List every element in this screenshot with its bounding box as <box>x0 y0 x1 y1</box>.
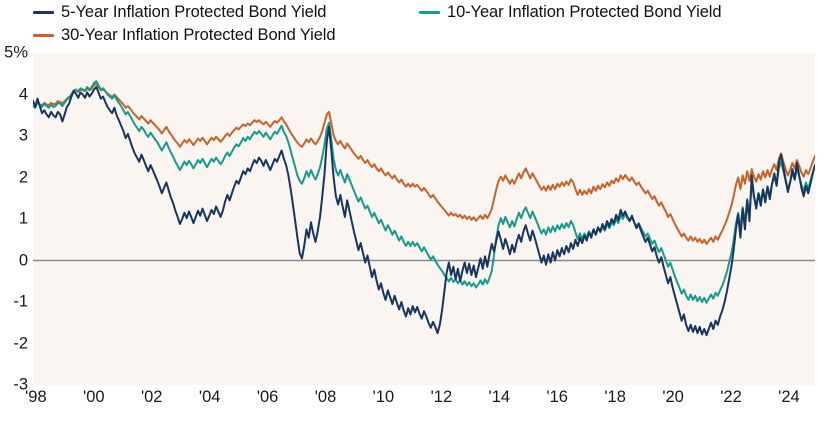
series-lines <box>33 53 815 385</box>
legend-swatch-30-year-line-icon <box>33 34 54 37</box>
x-axis-tick-label: '00 <box>83 388 105 407</box>
x-axis-tick-label: '12 <box>431 388 453 407</box>
x-axis-tick-label: '14 <box>489 388 511 407</box>
y-axis-tick-label: -2 <box>13 334 28 353</box>
inflation-protected-bond-yield-chart: 5-Year Inflation Protected Bond Yield 10… <box>0 0 825 421</box>
y-axis-tick-label: 4 <box>19 85 28 104</box>
x-axis-tick-label: '04 <box>199 388 221 407</box>
series-line-5-year <box>33 87 815 335</box>
y-axis-tick-label: 3 <box>19 127 28 146</box>
legend-label-5-year: 5-Year Inflation Protected Bond Yield <box>61 3 326 22</box>
x-axis-tick-label: '98 <box>25 388 47 407</box>
y-axis-tick-label: 0 <box>19 251 28 270</box>
x-axis-tick-label: '20 <box>662 388 684 407</box>
y-axis-tick-label: 2 <box>19 168 28 187</box>
chart-legend: 5-Year Inflation Protected Bond Yield 10… <box>33 0 823 46</box>
legend-swatch-5-year-line-icon <box>33 11 54 14</box>
legend-item-30-year[interactable]: 30-Year Inflation Protected Bond Yield <box>33 25 335 46</box>
x-axis-tick-label: '02 <box>141 388 163 407</box>
x-axis-tick-label: '24 <box>778 388 800 407</box>
legend-item-5-year[interactable]: 5-Year Inflation Protected Bond Yield <box>33 2 326 23</box>
legend-label-30-year: 30-Year Inflation Protected Bond Yield <box>61 26 335 45</box>
series-line-30-year <box>33 84 815 244</box>
y-axis-tick-label: 1 <box>19 210 28 229</box>
y-axis-tick-label: -1 <box>13 293 28 312</box>
plot-area <box>33 53 815 385</box>
legend-item-10-year[interactable]: 10-Year Inflation Protected Bond Yield <box>419 2 721 23</box>
legend-label-10-year: 10-Year Inflation Protected Bond Yield <box>447 3 721 22</box>
x-axis-tick-label: '06 <box>257 388 279 407</box>
x-axis-tick-label: '22 <box>720 388 742 407</box>
legend-swatch-10-year-line-icon <box>419 11 440 14</box>
x-axis-tick-label: '08 <box>315 388 337 407</box>
x-axis-tick-label: '18 <box>604 388 626 407</box>
y-axis-tick-label: 5% <box>4 44 28 63</box>
x-axis-tick-label: '16 <box>546 388 568 407</box>
x-axis: '98'00'02'04'06'08'10'12'14'16'18'20'22'… <box>33 388 815 416</box>
x-axis-tick-label: '10 <box>373 388 395 407</box>
y-axis: 5%43210-1-2-3 <box>0 53 28 385</box>
series-line-10-year <box>33 81 815 303</box>
